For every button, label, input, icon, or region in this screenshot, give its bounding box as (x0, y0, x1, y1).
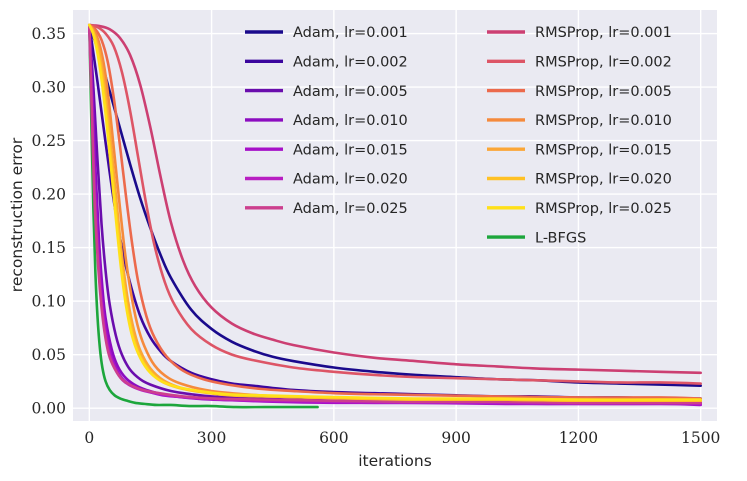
legend-label: Adam, lr=0.005 (293, 84, 408, 100)
chart-svg: 030060090012001500 0.000.050.100.150.200… (0, 0, 747, 481)
y-tick-label: 0.00 (31, 400, 66, 418)
legend-label: Adam, lr=0.020 (293, 172, 408, 188)
legend-label: RMSProp, lr=0.005 (535, 84, 672, 100)
y-tick-label: 0.35 (31, 25, 66, 43)
legend-label: Adam, lr=0.010 (293, 113, 408, 129)
x-tick-label: 600 (319, 429, 349, 447)
legend-label: RMSProp, lr=0.015 (535, 142, 672, 158)
legend-label: RMSProp, lr=0.010 (535, 113, 672, 129)
y-tick-label: 0.30 (31, 79, 66, 97)
legend-label: RMSProp, lr=0.025 (535, 201, 672, 217)
y-tick-label: 0.20 (31, 186, 66, 204)
y-tick-label: 0.15 (31, 239, 66, 257)
x-tick-label: 900 (441, 429, 471, 447)
y-tick-label: 0.05 (31, 346, 66, 364)
x-axis-label: iterations (358, 452, 432, 470)
x-tick-label: 300 (197, 429, 227, 447)
legend-label: Adam, lr=0.001 (293, 25, 408, 41)
legend-label: Adam, lr=0.025 (293, 201, 408, 217)
y-tick-label: 0.25 (31, 132, 66, 150)
x-tick-label: 1200 (559, 429, 598, 447)
legend-label: RMSProp, lr=0.002 (535, 55, 672, 71)
legend-label: Adam, lr=0.015 (293, 142, 408, 158)
y-axis-label: reconstruction error (8, 137, 26, 292)
legend-label: RMSProp, lr=0.020 (535, 172, 672, 188)
y-tick-labels: 0.000.050.100.150.200.250.300.35 (31, 25, 66, 418)
y-tick-label: 0.10 (31, 293, 66, 311)
figure-canvas: 030060090012001500 0.000.050.100.150.200… (0, 0, 747, 481)
legend-label: Adam, lr=0.002 (293, 55, 408, 71)
x-tick-labels: 030060090012001500 (84, 429, 720, 447)
legend-label: L-BFGS (535, 230, 586, 246)
x-tick-label: 1500 (681, 429, 720, 447)
legend-label: RMSProp, lr=0.001 (535, 25, 672, 41)
x-tick-label: 0 (84, 429, 94, 447)
